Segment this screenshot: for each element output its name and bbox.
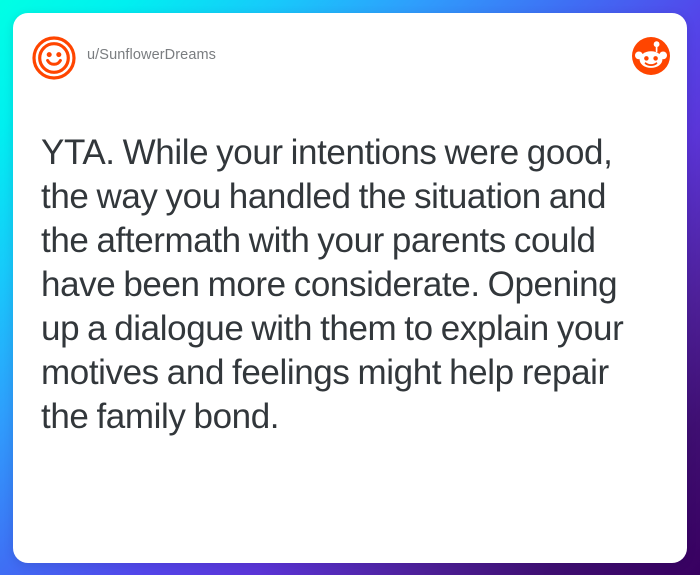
smiley-face-avatar-icon[interactable] bbox=[32, 36, 76, 80]
post-card-header: u/SunflowerDreams bbox=[13, 13, 687, 93]
post-card-body: YTA. While your intentions were good, th… bbox=[13, 131, 687, 439]
reddit-post-card: u/SunflowerDreams bbox=[13, 13, 687, 563]
post-card-canvas: u/SunflowerDreams bbox=[0, 0, 700, 575]
post-text-content: YTA. While your intentions were good, th… bbox=[41, 131, 661, 439]
reddit-snoo-logo-icon[interactable] bbox=[631, 36, 671, 76]
post-author-username[interactable]: u/SunflowerDreams bbox=[87, 47, 216, 63]
